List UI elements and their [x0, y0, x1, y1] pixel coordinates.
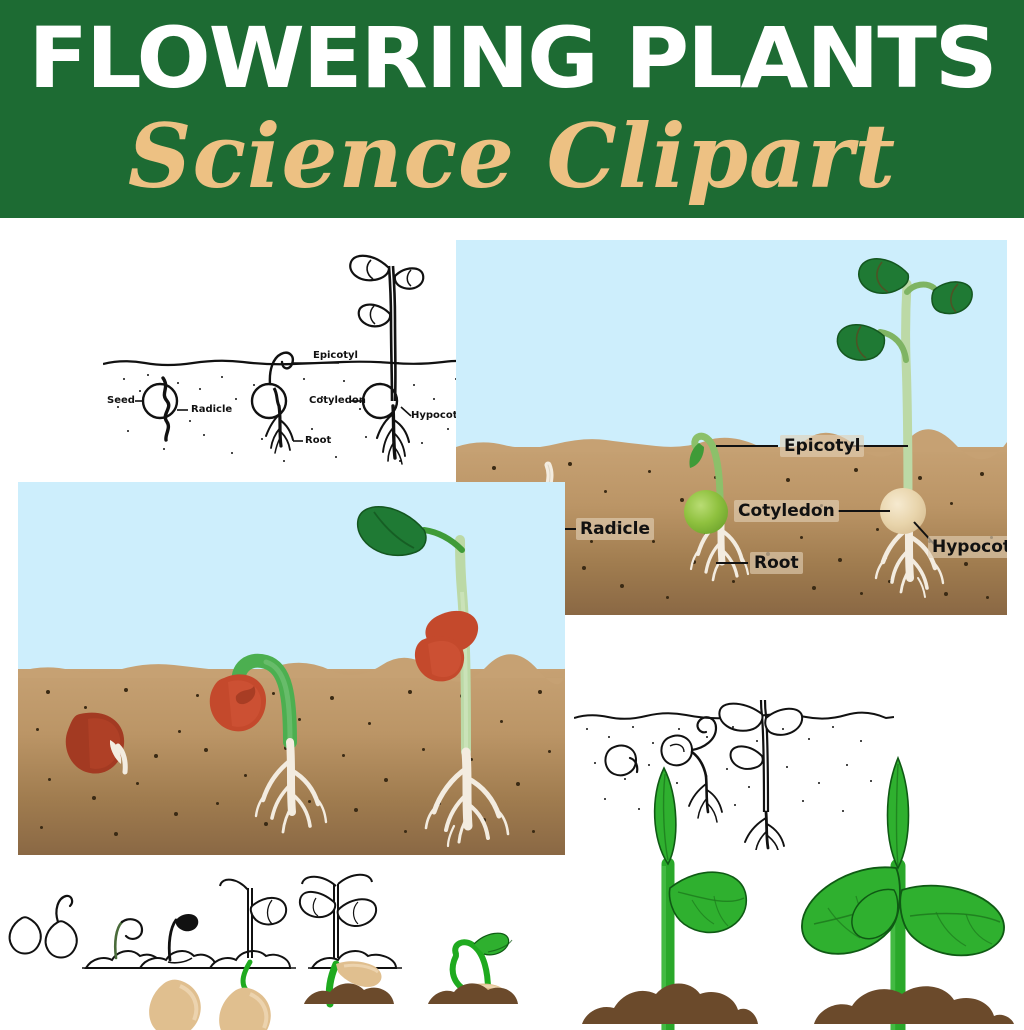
- green-plant-group: [564, 700, 1024, 1030]
- clipart-cover: FLOWERING PLANTS Science Clipart: [0, 0, 1024, 1024]
- bw-label-radicle: Radicle: [191, 404, 232, 415]
- panel-bean-germination-scene: [18, 482, 565, 855]
- bw-ground-line: [103, 238, 473, 470]
- color-label-radicle: Radicle: [576, 518, 654, 540]
- page-subtitle: Science Clipart: [0, 112, 1024, 200]
- bw-label-root: Root: [305, 435, 331, 446]
- seed-stage-strip: [0, 880, 560, 1005]
- panel-bw-germination-diagram: Seed Radicle Epicotyl Cotyledon Hypocoty…: [103, 238, 473, 470]
- bw-label-seed: Seed: [107, 395, 135, 406]
- color-label-epicotyl: Epicotyl: [780, 435, 864, 457]
- bean-stage-3: [18, 482, 565, 855]
- color-label-root: Root: [750, 552, 803, 574]
- color-label-hypocotyl: Hypocotyl: [928, 536, 1007, 558]
- page-title: FLOWERING PLANTS: [0, 16, 1024, 100]
- bw-label-epicotyl: Epicotyl: [313, 350, 358, 361]
- color-label-cotyledon: Cotyledon: [734, 500, 839, 522]
- bw-label-cotyledon: Cotyledon: [309, 395, 366, 406]
- leader-root: [716, 562, 748, 564]
